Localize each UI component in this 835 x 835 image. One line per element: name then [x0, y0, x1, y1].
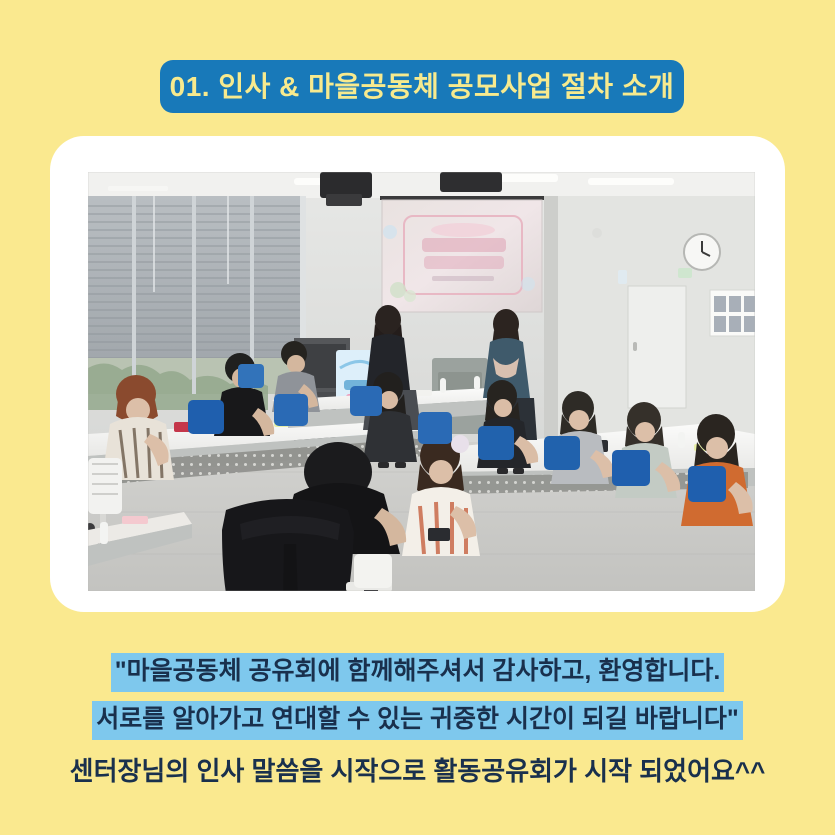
caption-line-2: 서로를 알아가고 연대할 수 있는 귀중한 시간이 되길 바랍니다" [92, 701, 742, 740]
photo-illustration [88, 172, 755, 591]
page-title: 01. 인사 & 마을공동체 공모사업 절차 소개 [170, 73, 675, 101]
title-banner: 01. 인사 & 마을공동체 공모사업 절차 소개 [160, 60, 684, 113]
caption-line-3: 센터장님의 인사 말씀을 시작으로 활동공유회가 시작 되었어요^^ [70, 758, 766, 784]
caption-line-3-row: 센터장님의 인사 말씀을 시작으로 활동공유회가 시작 되었어요^^ [0, 748, 835, 794]
caption-block: "마을공동체 공유회에 함께해주셔서 감사하고, 환영합니다. 서로를 알아가고… [0, 650, 835, 798]
card-root: 01. 인사 & 마을공동체 공모사업 절차 소개 [0, 0, 835, 835]
caption-line-1: "마을공동체 공유회에 함께해주셔서 감사하고, 환영합니다. [111, 653, 725, 692]
caption-line-1-row: "마을공동체 공유회에 함께해주셔서 감사하고, 환영합니다. [0, 650, 835, 694]
caption-line-2-row: 서로를 알아가고 연대할 수 있는 귀중한 시간이 되길 바랍니다" [0, 698, 835, 742]
meeting-room-photo [88, 172, 755, 591]
photo-frame [50, 136, 785, 612]
